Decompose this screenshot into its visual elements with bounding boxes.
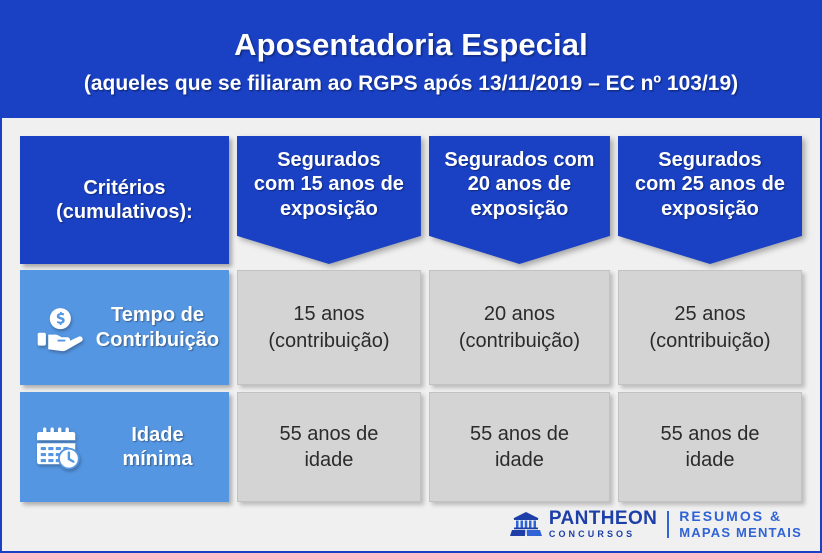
cell-idade-25: 55 anos de idade (661, 421, 760, 474)
column-header-25-anos: Segurados com 25 anos de exposição (618, 136, 802, 264)
table-cell: 25 anos (contribuição) (618, 270, 802, 385)
table-cell: 20 anos (contribuição) (429, 270, 610, 385)
cell-idade-15: 55 anos de idade (279, 421, 378, 474)
table-cell: 55 anos de idade (429, 392, 610, 502)
logo-concursos-text: CONCURSOS (549, 530, 657, 539)
logo-mapas-text: MAPAS MENTAIS (679, 526, 802, 539)
table-row: Tempo de Contribuição 15 anos (contribui… (20, 270, 802, 385)
row-label-tempo-text: Tempo de Contribuição (92, 303, 229, 352)
row-label-tempo-line2: Contribuição (96, 329, 219, 351)
column-header-15-line3: exposição (280, 197, 378, 221)
column-header-20-line3: exposição (471, 197, 569, 221)
criteria-header-cell: Critérios (cumulativos): (20, 136, 229, 264)
chevron-down-icon: Segurados com 20 anos de exposição (429, 136, 610, 264)
hand-holding-money-icon (32, 302, 84, 354)
logo-divider (667, 511, 669, 538)
chevron-down-icon: Segurados com 25 anos de exposição (618, 136, 802, 264)
page-subtitle: (aqueles que se filiaram ao RGPS após 13… (84, 72, 738, 96)
chevron-down-icon: Segurados com 15 anos de exposição (237, 136, 421, 264)
table-cell: 55 anos de idade (618, 392, 802, 502)
column-header-20-line1: Segurados com (444, 148, 594, 172)
comparison-table: Critérios (cumulativos): Segurados com 1… (2, 118, 820, 551)
logo-resumos-text: RESUMOS & (679, 509, 802, 523)
column-header-15-anos: Segurados com 15 anos de exposição (237, 136, 421, 264)
row-label-idade-text: Idade mínima (92, 423, 229, 472)
row-label-idade-line2: mínima (122, 448, 192, 470)
logo-tagline: RESUMOS & MAPAS MENTAIS (679, 509, 802, 539)
row-label-idade-line1: Idade (131, 424, 183, 446)
cell-tempo-15: 15 anos (contribuição) (268, 301, 389, 354)
column-header-20-line2: 20 anos de (468, 172, 571, 196)
pantheon-building-book-icon (509, 511, 543, 537)
calendar-clock-icon (32, 421, 84, 473)
logo-wordmark: PANTHEON CONCURSOS (549, 509, 657, 539)
criteria-header-line1: Critérios (83, 176, 165, 200)
cell-idade-20: 55 anos de idade (470, 421, 569, 474)
table-row: Idade mínima 55 anos de idade 55 anos de… (20, 392, 802, 502)
column-header-15-line1: Segurados (277, 148, 380, 172)
row-label-idade-minima: Idade mínima (20, 392, 229, 502)
brand-logo: PANTHEON CONCURSOS RESUMOS & MAPAS MENTA… (509, 509, 802, 539)
table-cell: 15 anos (contribuição) (237, 270, 421, 385)
cell-tempo-25: 25 anos (contribuição) (649, 301, 770, 354)
column-header-25-line2: com 25 anos de (635, 172, 785, 196)
infographic-root: Aposentadoria Especial (aqueles que se f… (0, 0, 822, 553)
row-label-tempo-line1: Tempo de (111, 304, 204, 326)
column-header-25-line3: exposição (661, 197, 759, 221)
column-header-15-line2: com 15 anos de (254, 172, 404, 196)
table-header-row: Critérios (cumulativos): Segurados com 1… (20, 136, 802, 264)
column-header-25-line1: Segurados (658, 148, 761, 172)
criteria-header-line2: (cumulativos): (56, 200, 193, 224)
logo-pantheon-text: PANTHEON (549, 509, 657, 528)
row-label-tempo-contribuicao: Tempo de Contribuição (20, 270, 229, 385)
cell-tempo-20: 20 anos (contribuição) (459, 301, 580, 354)
page-title: Aposentadoria Especial (234, 28, 588, 63)
table-cell: 55 anos de idade (237, 392, 421, 502)
column-header-20-anos: Segurados com 20 anos de exposição (429, 136, 610, 264)
header-banner: Aposentadoria Especial (aqueles que se f… (2, 2, 820, 118)
